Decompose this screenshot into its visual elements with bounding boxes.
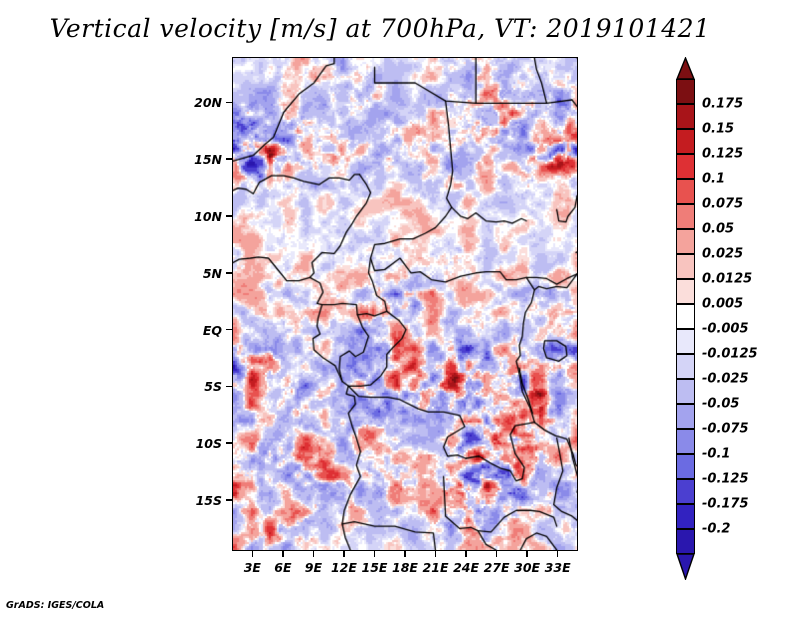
- colorbar-tick-label: -0.075: [702, 422, 749, 437]
- colorbar-tick-label: -0.0125: [702, 347, 758, 362]
- colorbar-band: [676, 354, 695, 379]
- attribution-footer: GrADS: IGES/COLA: [6, 600, 104, 611]
- x-axis-label: 3E: [244, 560, 261, 575]
- map-plot-area: [232, 57, 578, 551]
- colorbar-band: [676, 79, 695, 104]
- colorbar-band: [676, 279, 695, 304]
- colorbar: 0.1750.150.1250.10.0750.050.0250.01250.0…: [676, 57, 796, 557]
- y-axis-tick: [226, 215, 232, 217]
- colorbar-band: [676, 129, 695, 154]
- x-axis-tick: [252, 551, 254, 557]
- colorbar-band: [676, 304, 695, 329]
- x-axis-label: 6E: [274, 560, 291, 575]
- colorbar-band: [676, 479, 695, 504]
- y-axis-label: 15N: [0, 152, 222, 167]
- x-axis-tick: [313, 551, 315, 557]
- colorbar-tick-label: 0.005: [702, 297, 743, 312]
- y-axis-label: EQ: [0, 323, 222, 338]
- x-axis-tick: [465, 551, 467, 557]
- x-axis-tick: [496, 551, 498, 557]
- colorbar-tick-label: -0.05: [702, 397, 739, 412]
- country-borders-overlay: [233, 58, 577, 550]
- colorbar-band: [676, 329, 695, 354]
- colorbar-min-arrow: [676, 554, 695, 580]
- x-axis-label: 21E: [423, 560, 449, 575]
- y-axis-label: 15S: [0, 493, 222, 508]
- colorbar-tick-label: 0.175: [702, 97, 743, 112]
- colorbar-tick-label: 0.025: [702, 247, 743, 262]
- colorbar-band: [676, 204, 695, 229]
- colorbar-tick-label: 0.0125: [702, 272, 752, 287]
- colorbar-band: [676, 404, 695, 429]
- x-axis-tick: [435, 551, 437, 557]
- y-axis-tick: [226, 329, 232, 331]
- x-axis-tick: [526, 551, 528, 557]
- y-axis-tick: [226, 272, 232, 274]
- colorbar-tick-label: -0.005: [702, 322, 749, 337]
- colorbar-tick-label: 0.125: [702, 147, 743, 162]
- colorbar-tick-label: 0.1: [702, 172, 725, 187]
- page-title: Vertical velocity [m/s] at 700hPa, VT: 2…: [0, 14, 760, 43]
- colorbar-tick-label: 0.075: [702, 197, 743, 212]
- x-axis-tick: [557, 551, 559, 557]
- y-axis-tick: [226, 158, 232, 160]
- colorbar-tick-label: -0.1: [702, 447, 730, 462]
- x-axis-label: 30E: [514, 560, 540, 575]
- x-axis-tick: [343, 551, 345, 557]
- x-axis-label: 12E: [331, 560, 357, 575]
- y-axis-tick: [226, 499, 232, 501]
- x-axis-tick: [404, 551, 406, 557]
- y-axis-label: 20N: [0, 95, 222, 110]
- colorbar-band: [676, 254, 695, 279]
- colorbar-tick-label: -0.025: [702, 372, 749, 387]
- colorbar-band: [676, 529, 695, 554]
- y-axis-label: 5N: [0, 266, 222, 281]
- x-axis-tick: [374, 551, 376, 557]
- colorbar-band: [676, 179, 695, 204]
- y-axis-tick: [226, 386, 232, 388]
- y-axis-label: 10S: [0, 436, 222, 451]
- colorbar-max-arrow: [676, 57, 695, 79]
- x-axis-label: 24E: [453, 560, 479, 575]
- x-axis-label: 33E: [545, 560, 571, 575]
- x-axis-label: 15E: [362, 560, 388, 575]
- colorbar-band: [676, 379, 695, 404]
- colorbar-tick-label: -0.175: [702, 497, 749, 512]
- y-axis-label: 5S: [0, 379, 222, 394]
- colorbar-tick-label: -0.2: [702, 522, 730, 537]
- x-axis-tick: [282, 551, 284, 557]
- colorbar-band: [676, 454, 695, 479]
- colorbar-band: [676, 429, 695, 454]
- y-axis-tick: [226, 102, 232, 104]
- colorbar-tick-label: 0.05: [702, 222, 734, 237]
- y-axis-tick: [226, 442, 232, 444]
- colorbar-band: [676, 504, 695, 529]
- colorbar-tick-label: -0.125: [702, 472, 749, 487]
- colorbar-tick-label: 0.15: [702, 122, 734, 137]
- colorbar-band: [676, 229, 695, 254]
- x-axis-label: 27E: [484, 560, 510, 575]
- y-axis-label: 10N: [0, 209, 222, 224]
- x-axis-label: 9E: [305, 560, 322, 575]
- colorbar-band: [676, 154, 695, 179]
- x-axis-label: 18E: [392, 560, 418, 575]
- colorbar-band: [676, 104, 695, 129]
